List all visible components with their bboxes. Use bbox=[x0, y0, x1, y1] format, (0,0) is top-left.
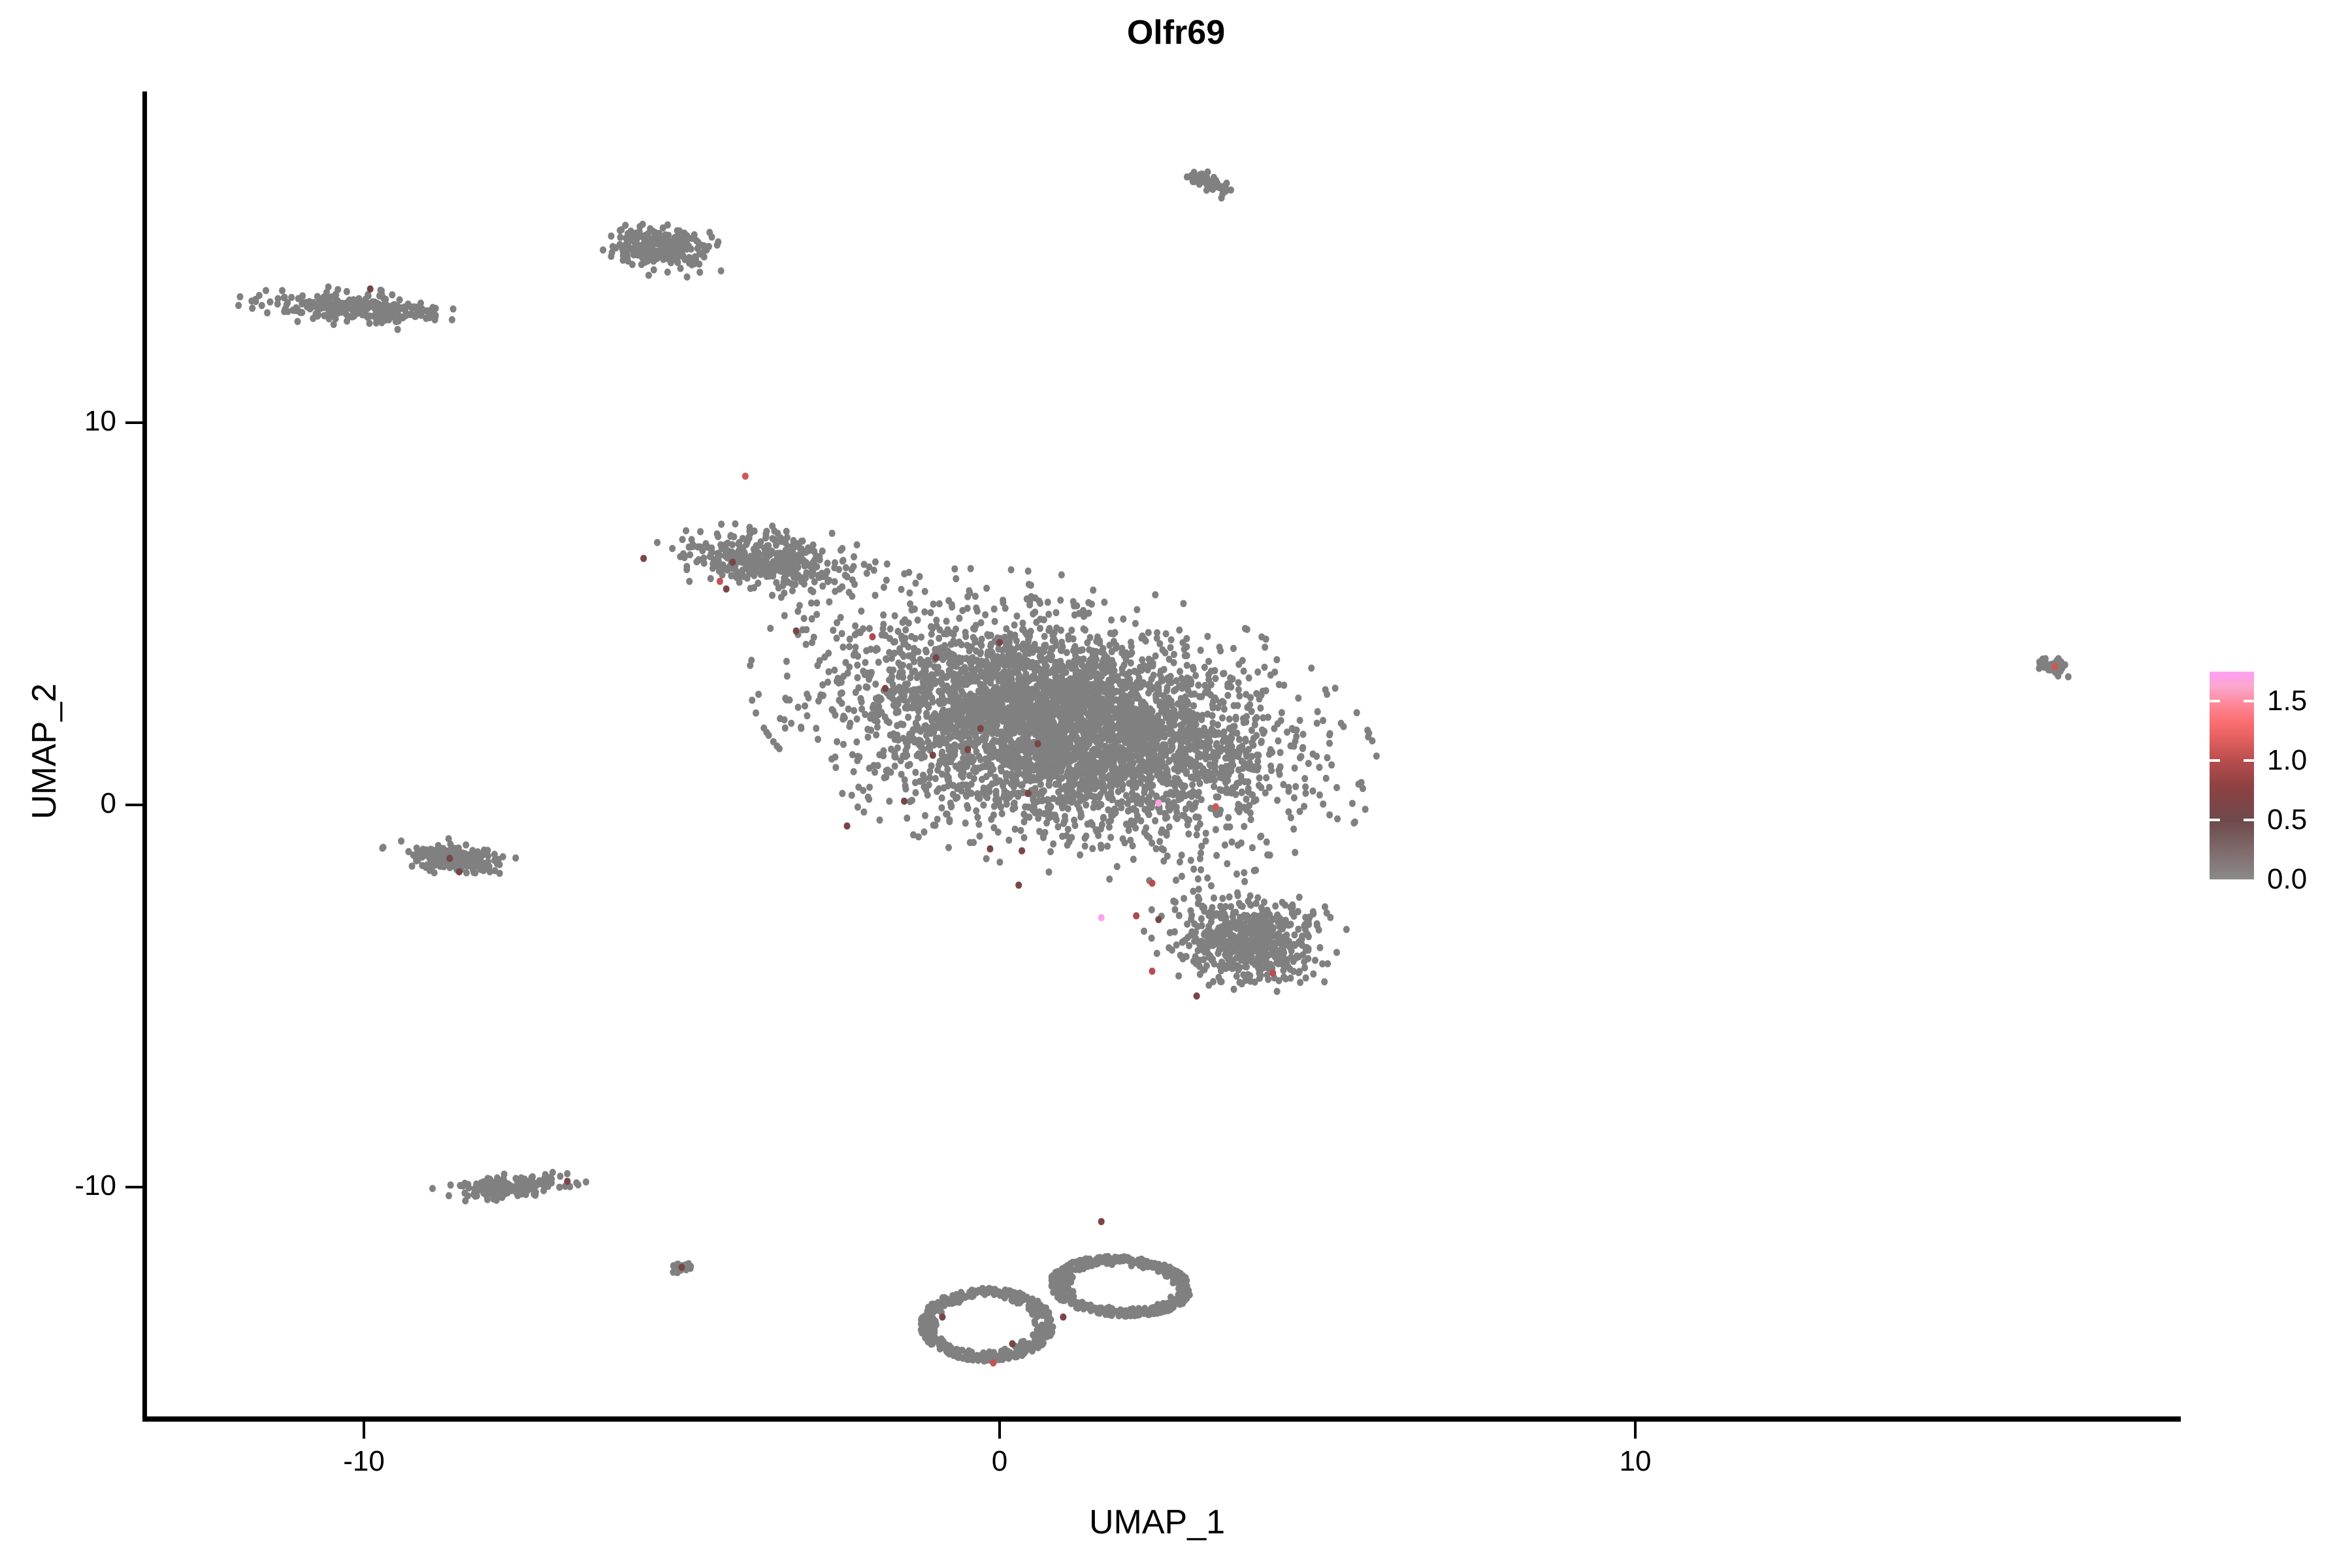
scatter-point bbox=[1110, 780, 1117, 787]
scatter-point bbox=[851, 707, 857, 714]
scatter-point bbox=[1053, 816, 1060, 823]
scatter-point bbox=[660, 236, 666, 243]
scatter-point bbox=[1143, 734, 1149, 741]
scatter-point bbox=[267, 299, 273, 306]
scatter-point bbox=[1192, 672, 1199, 679]
scatter-point bbox=[1117, 744, 1123, 751]
scatter-point bbox=[1177, 791, 1184, 798]
scatter-point bbox=[931, 663, 938, 670]
scatter-point bbox=[1021, 714, 1028, 721]
scatter-point bbox=[988, 699, 995, 706]
scatter-point bbox=[985, 743, 992, 750]
scatter-point bbox=[1039, 744, 1046, 751]
scatter-point bbox=[672, 256, 678, 263]
scatter-point bbox=[1040, 832, 1047, 840]
scatter-point bbox=[1200, 732, 1207, 739]
scatter-point bbox=[912, 691, 919, 698]
scatter-point bbox=[939, 687, 946, 694]
scatter-point bbox=[1037, 729, 1044, 736]
scatter-point bbox=[962, 629, 969, 636]
scatter-point bbox=[414, 304, 420, 311]
scatter-point bbox=[1011, 653, 1017, 661]
scatter-point bbox=[1196, 181, 1203, 188]
scatter-point bbox=[683, 246, 690, 253]
scatter-point bbox=[895, 659, 902, 666]
scatter-point bbox=[1232, 783, 1239, 791]
scatter-point bbox=[1005, 650, 1012, 657]
scatter-point bbox=[1126, 738, 1133, 745]
scatter-point bbox=[1149, 732, 1156, 739]
scatter-point bbox=[1026, 715, 1033, 722]
scatter-point bbox=[1115, 773, 1121, 780]
scatter-point bbox=[999, 732, 1005, 740]
scatter-point bbox=[1139, 796, 1145, 804]
scatter-point bbox=[962, 702, 968, 710]
scatter-point bbox=[977, 649, 984, 656]
scatter-point bbox=[1038, 724, 1045, 731]
scatter-point bbox=[1302, 783, 1309, 791]
scatter-point bbox=[1160, 776, 1166, 783]
scatter-point bbox=[998, 742, 1005, 749]
scatter-point bbox=[1071, 747, 1077, 754]
y-ticklabel--10: -10 bbox=[0, 1169, 116, 1202]
scatter-point bbox=[1120, 781, 1126, 789]
scatter-point bbox=[1176, 778, 1183, 785]
scatter-point bbox=[968, 661, 974, 668]
scatter-point bbox=[1108, 720, 1115, 727]
scatter-point bbox=[625, 242, 632, 249]
scatter-point bbox=[1102, 711, 1108, 719]
scatter-point bbox=[957, 675, 964, 682]
scatter-point bbox=[1209, 186, 1216, 193]
scatter-point bbox=[299, 301, 305, 308]
scatter-point bbox=[855, 783, 862, 791]
scatter-point bbox=[1130, 723, 1136, 730]
scatter-point bbox=[770, 738, 777, 745]
scatter-point bbox=[983, 711, 990, 719]
scatter-point bbox=[1014, 657, 1021, 664]
scatter-point bbox=[830, 627, 836, 634]
scatter-point bbox=[1185, 755, 1192, 762]
scatter-point bbox=[930, 715, 936, 723]
scatter-point bbox=[1254, 751, 1260, 759]
scatter-point bbox=[664, 246, 671, 253]
scatter-point bbox=[1002, 691, 1008, 698]
scatter-point bbox=[1147, 759, 1153, 766]
scatter-point bbox=[891, 750, 898, 757]
scatter-point bbox=[336, 308, 342, 315]
scatter-point bbox=[923, 662, 930, 669]
scatter-point bbox=[645, 238, 652, 245]
scatter-point bbox=[1188, 730, 1194, 737]
scatter-point bbox=[955, 719, 961, 727]
scatter-point bbox=[1156, 718, 1162, 725]
scatter-point bbox=[644, 244, 650, 252]
scatter-point bbox=[999, 810, 1005, 817]
scatter-point bbox=[1034, 774, 1041, 781]
scatter-point bbox=[690, 541, 696, 548]
scatter-point bbox=[979, 763, 985, 770]
scatter-point bbox=[1094, 734, 1100, 741]
scatter-point bbox=[1074, 686, 1081, 693]
scatter-point bbox=[922, 588, 928, 595]
scatter-point bbox=[685, 242, 692, 250]
scatter-point bbox=[1155, 768, 1162, 776]
scatter-point bbox=[1134, 679, 1140, 686]
scatter-point bbox=[1177, 747, 1183, 754]
scatter-point bbox=[1158, 703, 1165, 710]
scatter-point bbox=[302, 299, 309, 306]
scatter-point bbox=[948, 641, 955, 648]
scatter-point bbox=[972, 732, 979, 740]
scatter-point bbox=[899, 685, 906, 693]
scatter-point bbox=[887, 635, 893, 642]
scatter-point bbox=[1021, 756, 1027, 763]
scatter-point bbox=[1205, 733, 1212, 740]
scatter-point bbox=[1122, 684, 1129, 691]
scatter-point bbox=[395, 311, 401, 318]
scatter-point bbox=[1005, 669, 1012, 676]
scatter-point bbox=[964, 605, 971, 612]
scatter-point bbox=[1068, 783, 1074, 791]
scatter-point bbox=[951, 678, 957, 685]
scatter-point bbox=[317, 305, 323, 312]
scatter-point bbox=[1040, 715, 1047, 722]
scatter-point bbox=[1032, 720, 1039, 727]
scatter-point bbox=[1019, 722, 1025, 729]
scatter-point bbox=[1006, 757, 1013, 764]
scatter-point bbox=[369, 299, 376, 306]
scatter-point bbox=[961, 760, 968, 767]
scatter-point bbox=[1090, 716, 1097, 723]
scatter-point bbox=[1105, 677, 1112, 684]
scatter-point bbox=[1232, 723, 1238, 730]
scatter-point bbox=[665, 255, 672, 263]
scatter-point bbox=[1078, 715, 1085, 722]
scatter-point bbox=[1098, 761, 1105, 768]
scatter-point bbox=[1100, 664, 1106, 671]
scatter-point bbox=[1091, 781, 1098, 789]
scatter-point bbox=[951, 725, 957, 732]
scatter-point bbox=[1004, 642, 1010, 649]
scatter-point bbox=[1037, 742, 1044, 749]
scatter-point bbox=[1051, 734, 1058, 741]
scatter-point bbox=[941, 759, 948, 766]
scatter-point bbox=[631, 238, 638, 245]
scatter-point bbox=[1082, 627, 1088, 634]
scatter-point bbox=[1042, 753, 1049, 760]
scatter-point bbox=[1051, 813, 1057, 821]
scatter-point bbox=[989, 727, 996, 734]
scatter-point bbox=[347, 302, 353, 310]
scatter-point bbox=[1096, 638, 1103, 645]
scatter-point bbox=[644, 255, 651, 262]
scatter-point bbox=[1014, 670, 1021, 677]
scatter-point bbox=[1153, 727, 1160, 734]
scatter-point bbox=[1124, 721, 1130, 728]
scatter-point bbox=[1207, 182, 1213, 189]
scatter-point bbox=[817, 556, 823, 563]
scatter-point bbox=[933, 647, 939, 655]
scatter-point bbox=[1250, 735, 1257, 742]
scatter-point bbox=[956, 638, 962, 645]
scatter-point bbox=[985, 632, 992, 640]
scatter-point bbox=[636, 233, 642, 240]
scatter-point bbox=[252, 298, 259, 305]
scatter-point bbox=[973, 666, 980, 673]
scatter-point bbox=[817, 693, 824, 700]
scatter-point bbox=[779, 555, 785, 563]
scatter-point bbox=[1153, 719, 1160, 726]
scatter-point bbox=[1035, 712, 1041, 719]
scatter-point bbox=[873, 704, 879, 711]
scatter-point bbox=[953, 680, 959, 687]
scatter-point bbox=[1051, 697, 1058, 704]
scatter-point bbox=[1058, 717, 1065, 724]
scatter-point bbox=[1004, 715, 1010, 722]
scatter-point bbox=[1086, 731, 1093, 738]
scatter-point bbox=[1030, 725, 1037, 732]
scatter-point bbox=[1239, 765, 1246, 772]
scatter-point bbox=[912, 700, 919, 707]
scatter-point bbox=[1157, 757, 1164, 764]
scatter-point bbox=[365, 292, 372, 299]
scatter-point bbox=[1151, 745, 1157, 752]
scatter-point bbox=[1126, 693, 1133, 700]
scatter-point bbox=[1228, 734, 1235, 742]
scatter-point bbox=[948, 749, 955, 757]
scatter-point bbox=[918, 634, 924, 641]
scatter-point bbox=[621, 247, 627, 254]
scatter-point bbox=[1179, 812, 1186, 819]
scatter-point bbox=[1103, 699, 1110, 706]
scatter-point bbox=[1249, 727, 1255, 734]
scatter-point bbox=[1324, 754, 1330, 761]
scatter-point bbox=[911, 647, 918, 654]
scatter-point bbox=[977, 650, 983, 657]
scatter-point bbox=[849, 576, 856, 583]
scatter-point bbox=[1022, 723, 1028, 730]
scatter-point bbox=[981, 672, 988, 679]
scatter-point bbox=[1077, 760, 1083, 768]
scatter-point bbox=[1168, 673, 1174, 680]
scatter-point bbox=[1060, 721, 1066, 728]
scatter-point bbox=[1054, 767, 1061, 774]
scatter-point bbox=[887, 732, 894, 739]
scatter-point bbox=[1076, 711, 1083, 718]
scatter-point bbox=[956, 655, 962, 662]
scatter-point bbox=[1202, 838, 1209, 845]
scatter-point bbox=[674, 250, 680, 257]
scatter-point bbox=[1072, 698, 1079, 705]
scatter-point bbox=[1105, 819, 1112, 826]
scatter-point bbox=[1132, 716, 1139, 723]
scatter-point bbox=[950, 782, 956, 789]
scatter-point bbox=[1119, 762, 1125, 770]
scatter-point bbox=[947, 721, 954, 728]
scatter-point bbox=[365, 302, 371, 310]
scatter-point bbox=[399, 304, 405, 312]
scatter-point bbox=[1085, 694, 1092, 701]
scatter-point bbox=[985, 649, 991, 656]
scatter-point bbox=[1168, 746, 1175, 753]
scatter-point bbox=[690, 543, 696, 550]
y-axis-line bbox=[142, 91, 147, 1419]
scatter-point bbox=[1030, 717, 1037, 724]
scatter-point bbox=[1070, 789, 1076, 796]
scatter-point bbox=[1064, 693, 1070, 700]
scatter-point bbox=[624, 239, 630, 246]
scatter-point bbox=[1101, 785, 1107, 792]
scatter-point bbox=[1113, 706, 1119, 713]
scatter-point bbox=[299, 292, 306, 299]
scatter-point bbox=[1003, 689, 1009, 696]
scatter-point bbox=[1097, 742, 1103, 749]
scatter-point bbox=[956, 615, 962, 622]
scatter-point bbox=[672, 245, 679, 252]
scatter-point bbox=[970, 719, 977, 726]
scatter-point bbox=[947, 757, 954, 764]
scatter-point bbox=[1007, 630, 1013, 638]
scatter-point bbox=[1036, 706, 1042, 713]
scatter-point bbox=[1063, 691, 1070, 698]
scatter-point bbox=[994, 635, 1001, 642]
scatter-point bbox=[1102, 655, 1109, 662]
scatter-point bbox=[1061, 664, 1068, 671]
scatter-point bbox=[1166, 694, 1172, 702]
scatter-point bbox=[1033, 776, 1039, 783]
scatter-point bbox=[1149, 766, 1156, 774]
scatter-point bbox=[828, 755, 835, 762]
scatter-point bbox=[928, 671, 935, 678]
scatter-point bbox=[915, 708, 922, 715]
scatter-point bbox=[1034, 699, 1041, 706]
scatter-point bbox=[1139, 730, 1145, 737]
scatter-point bbox=[1005, 719, 1011, 726]
scatter-point bbox=[1098, 801, 1104, 808]
scatter-point bbox=[1158, 752, 1165, 759]
scatter-point bbox=[1037, 702, 1043, 710]
scatter-point bbox=[391, 301, 397, 308]
scatter-point bbox=[803, 626, 809, 633]
scatter-point bbox=[1059, 804, 1066, 811]
scatter-point bbox=[1002, 680, 1009, 687]
scatter-point bbox=[1063, 832, 1070, 840]
scatter-point bbox=[928, 623, 934, 630]
scatter-point bbox=[1207, 761, 1213, 768]
scatter-point bbox=[693, 255, 699, 263]
scatter-point bbox=[786, 555, 792, 562]
scatter-point bbox=[967, 655, 973, 662]
scatter-point bbox=[1068, 834, 1075, 841]
scatter-point bbox=[1024, 737, 1031, 744]
scatter-point bbox=[1137, 731, 1144, 738]
scatter-point bbox=[1021, 811, 1027, 818]
scatter-point bbox=[836, 679, 842, 687]
scatter-point bbox=[1030, 794, 1036, 801]
scatter-point bbox=[1213, 740, 1220, 747]
scatter-point bbox=[1192, 177, 1198, 184]
scatter-point bbox=[378, 319, 385, 326]
scatter-point bbox=[1232, 752, 1239, 759]
scatter-point bbox=[936, 741, 943, 748]
scatter-point bbox=[1108, 812, 1115, 819]
scatter-point bbox=[955, 765, 962, 772]
scatter-point bbox=[983, 855, 990, 862]
scatter-point bbox=[1081, 613, 1087, 620]
scatter-point bbox=[1196, 753, 1202, 760]
scatter-point bbox=[1040, 719, 1047, 726]
scatter-point bbox=[1140, 679, 1147, 687]
scatter-point bbox=[353, 304, 359, 312]
scatter-point bbox=[1060, 738, 1067, 745]
scatter-point bbox=[1154, 691, 1160, 698]
scatter-point bbox=[962, 725, 969, 732]
scatter-point bbox=[1150, 660, 1156, 667]
scatter-point bbox=[674, 248, 681, 255]
scatter-point bbox=[1188, 717, 1194, 724]
scatter-point bbox=[960, 702, 967, 709]
scatter-point bbox=[1066, 743, 1073, 751]
scatter-point bbox=[1162, 742, 1169, 749]
scatter-point bbox=[687, 551, 693, 559]
scatter-point bbox=[696, 269, 703, 276]
scatter-point bbox=[1165, 804, 1171, 811]
scatter-point bbox=[1057, 712, 1064, 719]
scatter-point bbox=[902, 627, 909, 634]
scatter-point bbox=[1109, 796, 1116, 803]
scatter-point bbox=[874, 645, 880, 652]
scatter-point bbox=[1188, 745, 1195, 752]
scatter-point bbox=[890, 702, 897, 709]
scatter-point bbox=[1057, 596, 1064, 604]
scatter-point bbox=[965, 709, 972, 716]
scatter-point bbox=[1239, 758, 1245, 765]
scatter-point bbox=[1056, 734, 1063, 742]
scatter-point bbox=[1285, 788, 1292, 795]
scatter-point bbox=[1039, 728, 1045, 735]
scatter-point bbox=[1028, 581, 1034, 589]
scatter-point bbox=[1098, 845, 1104, 852]
scatter-point bbox=[681, 254, 687, 261]
scatter-point bbox=[1149, 804, 1155, 811]
scatter-point bbox=[1090, 749, 1097, 756]
scatter-point bbox=[1203, 180, 1209, 188]
scatter-point bbox=[1015, 763, 1022, 770]
scatter-point bbox=[1024, 745, 1030, 752]
scatter-point bbox=[1084, 639, 1090, 646]
scatter-point bbox=[1009, 762, 1015, 769]
scatter-point bbox=[928, 762, 935, 770]
scatter-point bbox=[1012, 695, 1019, 702]
scatter-point bbox=[1049, 685, 1055, 693]
scatter-point bbox=[1092, 793, 1099, 800]
scatter-point bbox=[936, 627, 943, 634]
scatter-point bbox=[1000, 682, 1006, 689]
scatter-point bbox=[1032, 730, 1038, 738]
scatter-point bbox=[1130, 805, 1137, 812]
scatter-point bbox=[1119, 710, 1126, 717]
scatter-point bbox=[1118, 709, 1124, 716]
scatter-point bbox=[1049, 743, 1055, 751]
scatter-point bbox=[918, 755, 924, 762]
scatter-point bbox=[1073, 734, 1080, 741]
scatter-point bbox=[982, 742, 988, 749]
scatter-point bbox=[1043, 772, 1050, 779]
scatter-point bbox=[1091, 693, 1098, 700]
scatter-point bbox=[1013, 773, 1019, 780]
scatter-point bbox=[1208, 681, 1215, 688]
